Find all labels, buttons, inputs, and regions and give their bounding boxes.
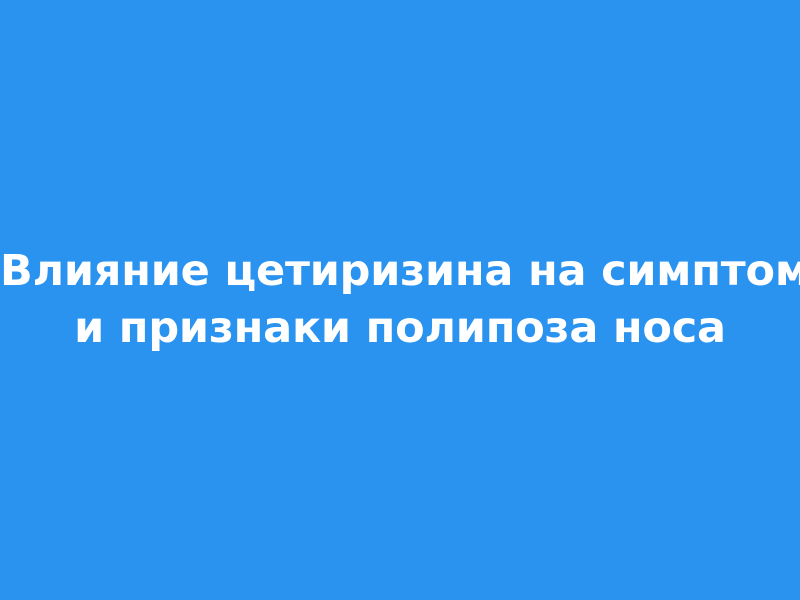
title-line-2: и признаки полипоза носа	[0, 300, 800, 357]
title-line-1: Влияние цетиризина на симптомы	[0, 243, 800, 300]
title-slide: Влияние цетиризина на симптомы и признак…	[0, 0, 800, 600]
page-title: Влияние цетиризина на симптомы и признак…	[0, 0, 800, 357]
